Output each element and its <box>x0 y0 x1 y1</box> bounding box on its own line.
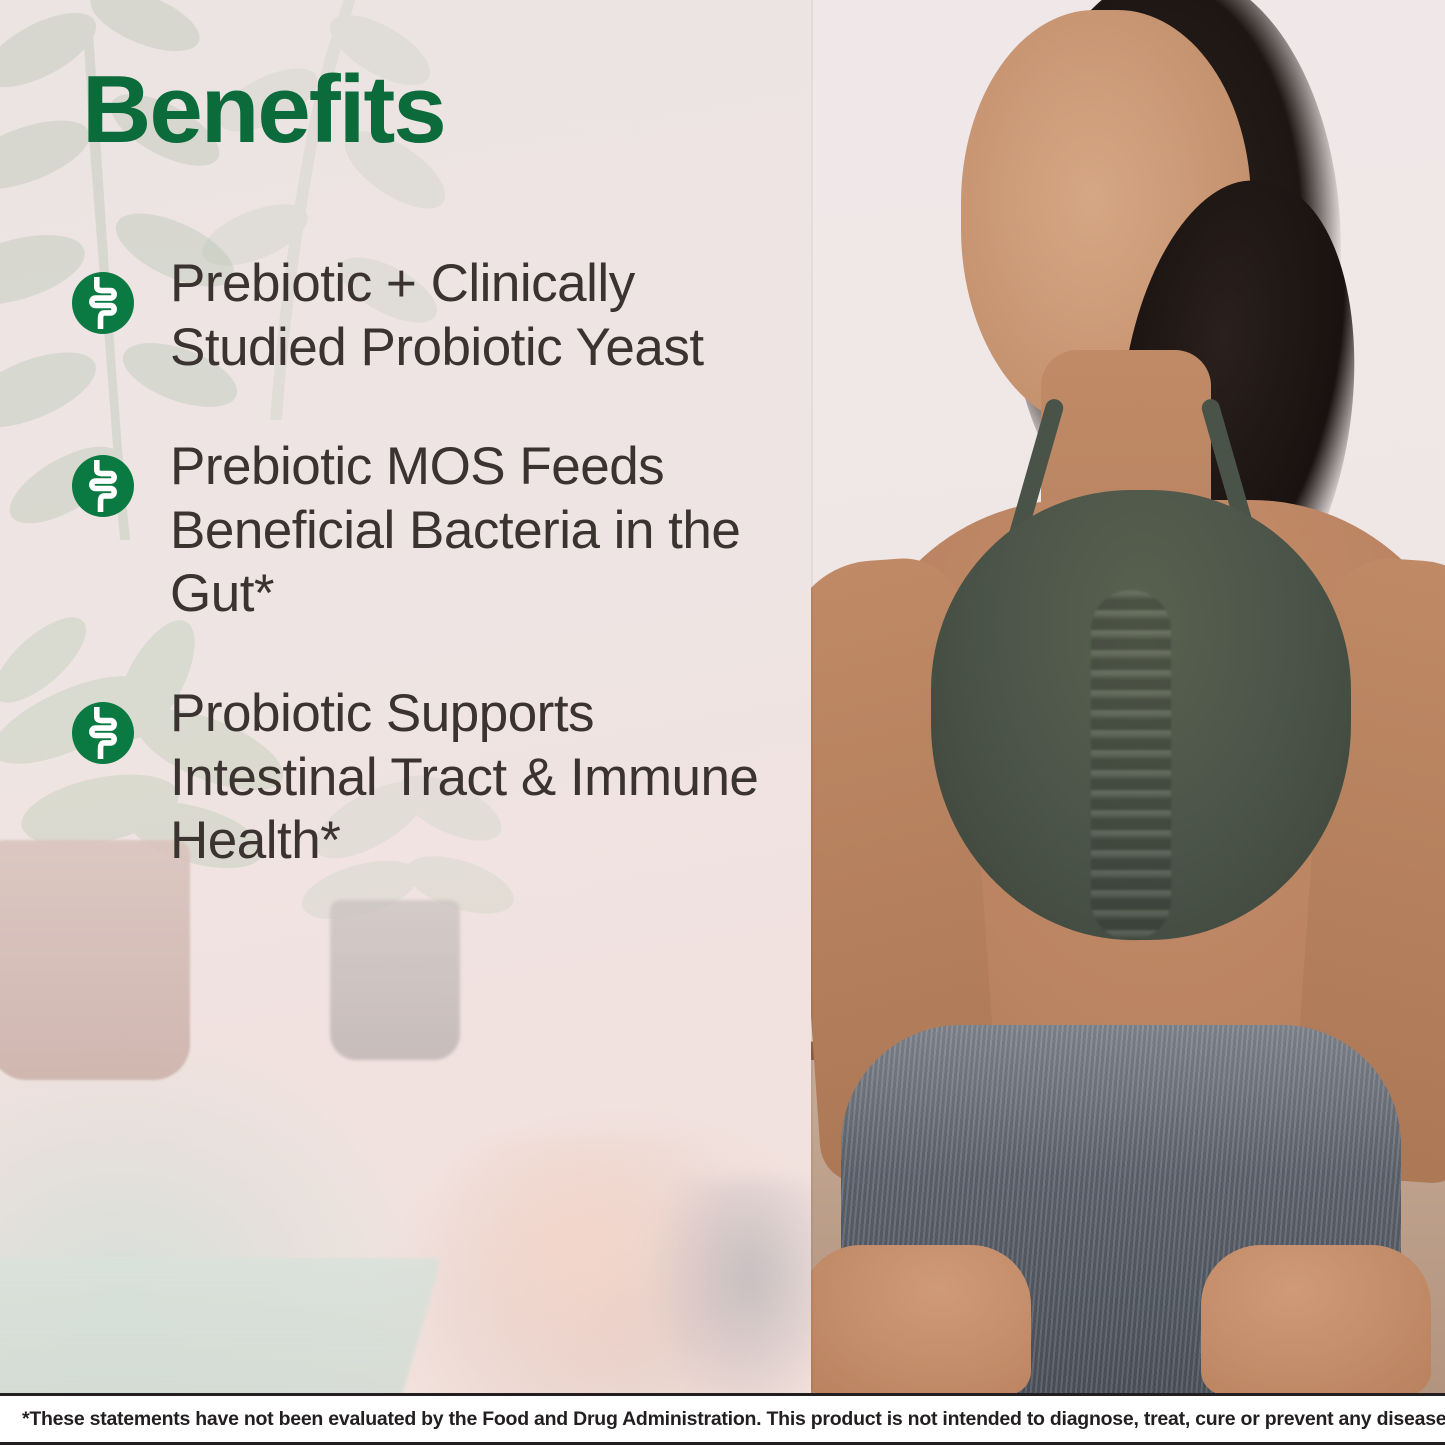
disclaimer-bar: *These statements have not been evaluate… <box>0 1393 1445 1445</box>
yoga-mat <box>0 1258 442 1393</box>
benefit-text: Probiotic Supports Intestinal Tract & Im… <box>170 682 790 873</box>
panel-divider <box>811 0 813 1393</box>
gut-icon <box>72 455 134 517</box>
model-right-hand <box>1201 1245 1431 1393</box>
benefit-item-2: Prebiotic MOS Feeds Beneficial Bacteria … <box>72 435 792 626</box>
gut-icon <box>72 272 134 334</box>
leggings-waistband <box>841 1025 1401 1175</box>
gut-icon <box>72 702 134 764</box>
benefits-list: Prebiotic + Clinically Studied Probiotic… <box>72 252 792 929</box>
benefit-item-1: Prebiotic + Clinically Studied Probiotic… <box>72 252 792 379</box>
disclaimer-text: *These statements have not been evaluate… <box>0 1408 1445 1431</box>
lifestyle-photo <box>811 0 1445 1393</box>
benefits-infographic: Benefits Prebiotic + Clinically Studied … <box>0 0 1445 1445</box>
benefit-text: Prebiotic + Clinically Studied Probiotic… <box>170 252 790 379</box>
top-ruching <box>1091 590 1171 940</box>
benefit-text: Prebiotic MOS Feeds Beneficial Bacteria … <box>170 435 790 626</box>
blurred-leg <box>650 1180 811 1393</box>
model-left-hand <box>811 1245 1031 1393</box>
benefit-item-3: Probiotic Supports Intestinal Tract & Im… <box>72 682 792 873</box>
page-title: Benefits <box>82 62 445 158</box>
benefits-panel: Benefits Prebiotic + Clinically Studied … <box>0 0 811 1393</box>
